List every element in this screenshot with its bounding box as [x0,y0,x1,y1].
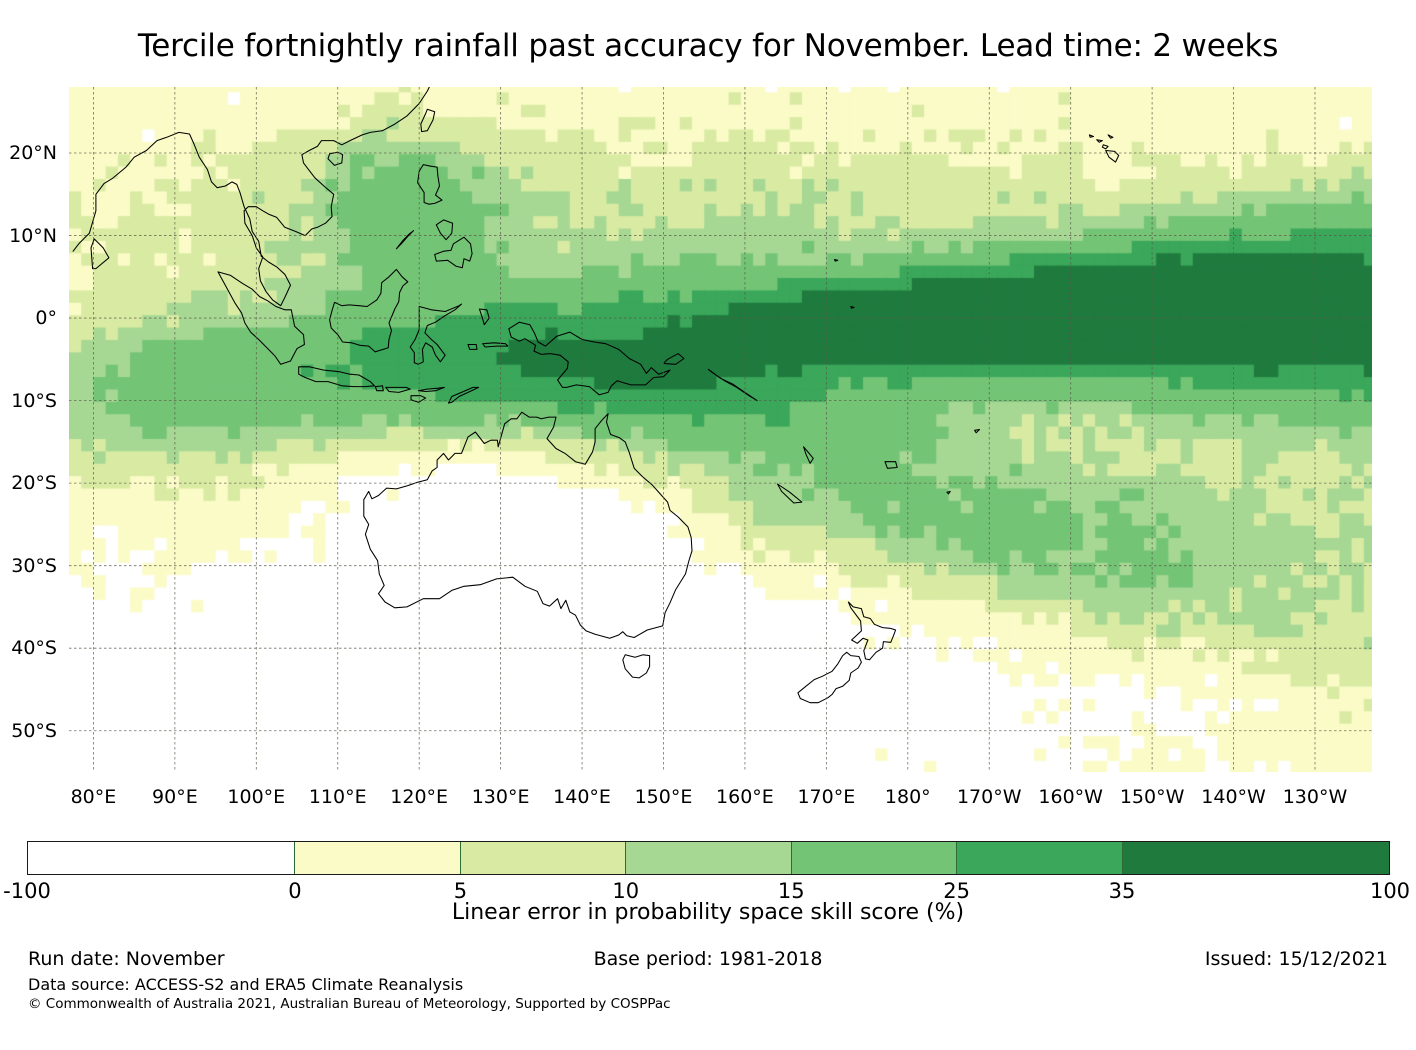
colorbar-segment [1122,842,1389,874]
colorbar-segment [294,842,459,874]
colorbar-segment [460,842,625,874]
longitude-tick-label: 130°W [1283,786,1348,808]
latitude-tick-label: 20°N [0,142,57,164]
longitude-tick-label: 110°E [309,786,367,808]
longitude-tick-label: 150°W [1120,786,1185,808]
longitude-tick-label: 150°E [635,786,693,808]
footer-data-source: Data source: ACCESS-S2 and ERA5 Climate … [28,975,463,994]
skill-score-heatmap [69,87,1372,772]
longitude-tick-label: 170°W [957,786,1022,808]
longitude-tick-label: 160°W [1038,786,1103,808]
colorbar-segment [791,842,956,874]
latitude-tick-label: 50°S [0,720,57,742]
colorbar-segment [28,842,294,874]
colorbar-segment [625,842,790,874]
longitude-tick-label: 130°E [472,786,530,808]
longitude-tick-label: 170°E [797,786,855,808]
longitude-tick-label: 140°W [1201,786,1266,808]
colorbar [27,841,1390,875]
longitude-tick-label: 80°E [71,786,117,808]
footer-copyright: © Commonwealth of Australia 2021, Austra… [28,996,671,1012]
footer-issued-date: Issued: 15/12/2021 [1205,948,1388,970]
longitude-tick-label: 90°E [152,786,198,808]
latitude-tick-label: 30°S [0,555,57,577]
latitude-tick-label: 20°S [0,472,57,494]
colorbar-title: Linear error in probability space skill … [0,900,1416,925]
latitude-tick-label: 10°N [0,225,57,247]
longitude-tick-label: 100°E [227,786,285,808]
map-plot-area [69,87,1372,772]
colorbar-segment [956,842,1121,874]
longitude-tick-label: 160°E [716,786,774,808]
longitude-tick-label: 120°E [390,786,448,808]
latitude-tick-label: 0° [0,307,57,329]
latitude-tick-label: 40°S [0,637,57,659]
page-title: Tercile fortnightly rainfall past accura… [0,28,1416,64]
longitude-tick-label: 140°E [553,786,611,808]
footer-base-period: Base period: 1981-2018 [0,948,1416,970]
latitude-tick-label: 10°S [0,390,57,412]
longitude-tick-label: 180° [885,786,931,808]
